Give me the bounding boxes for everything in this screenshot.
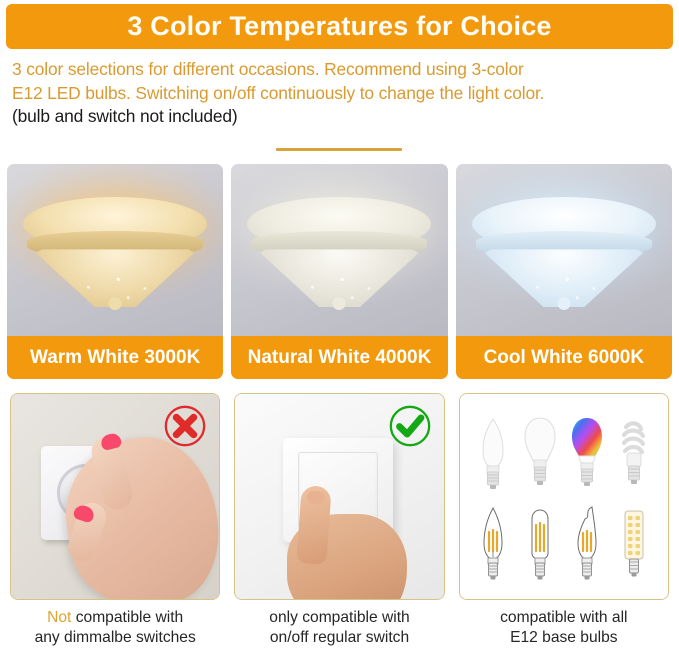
check-mark-icon bbox=[387, 403, 433, 449]
caption-line-1: only compatible with bbox=[234, 608, 444, 628]
bulb-cell bbox=[564, 408, 611, 499]
temperature-label: Cool White 6000K bbox=[484, 347, 644, 369]
compatibility-panel-dimmer: Not compatible with any dimmalbe switche… bbox=[10, 393, 220, 648]
bulb-cell bbox=[611, 408, 658, 499]
compatibility-caption-bulbs: compatible with all E12 base bulbs bbox=[459, 608, 669, 648]
intro-line-1: 3 color selections for different occasio… bbox=[12, 58, 672, 82]
crystal-flush-mount-fixture bbox=[472, 197, 656, 309]
cfl-spiral-bulb-icon bbox=[617, 415, 651, 491]
bulb-grid bbox=[460, 394, 668, 599]
caption-rest: compatible with bbox=[71, 609, 183, 626]
corn-led-bulb-icon bbox=[619, 505, 649, 583]
section-divider bbox=[276, 148, 402, 151]
temperature-caption-warm: Warm White 3000K bbox=[7, 336, 223, 379]
temperature-card-warm: Warm White 3000K bbox=[7, 164, 223, 379]
caption-line-1: Not compatible with bbox=[10, 608, 220, 628]
filament-candle-bulb-icon bbox=[477, 505, 509, 583]
bulb-cell bbox=[611, 499, 658, 590]
caption-line-2: E12 base bulbs bbox=[459, 628, 669, 648]
ceiling-light-photo-warm bbox=[7, 164, 223, 336]
color-temperature-row: Warm White 3000K Natural White 4000K bbox=[7, 164, 672, 379]
crystal-flush-mount-fixture bbox=[23, 197, 207, 309]
ceiling-light-photo-natural bbox=[231, 164, 447, 336]
caption-highlight: Not bbox=[47, 609, 71, 626]
ceiling-light-photo-cool bbox=[456, 164, 672, 336]
caption-line-1: compatible with all bbox=[459, 608, 669, 628]
caption-line-2: any dimmalbe switches bbox=[10, 628, 220, 648]
intro-line-2: E12 LED bulbs. Switching on/off continuo… bbox=[12, 82, 672, 106]
fixture-finial bbox=[333, 297, 346, 310]
dimmer-switch-photo bbox=[10, 393, 220, 600]
bulb-cell bbox=[517, 499, 564, 590]
bulb-cell bbox=[470, 499, 517, 590]
infographic-page: 3 Color Temperatures for Choice 3 color … bbox=[0, 0, 679, 653]
e12-bulb-chart bbox=[459, 393, 669, 600]
temperature-label: Natural White 4000K bbox=[248, 347, 432, 369]
fixture-finial bbox=[109, 297, 122, 310]
temperature-card-natural: Natural White 4000K bbox=[231, 164, 447, 379]
compatibility-panel-rocker: only compatible with on/off regular swit… bbox=[234, 393, 444, 648]
page-title: 3 Color Temperatures for Choice bbox=[127, 11, 551, 42]
rocker-switch-photo bbox=[234, 393, 444, 600]
globe-bulb-icon bbox=[522, 415, 558, 491]
candle-bulb-icon bbox=[476, 415, 510, 491]
bulb-cell bbox=[564, 499, 611, 590]
temperature-caption-cool: Cool White 6000K bbox=[456, 336, 672, 379]
header-banner: 3 Color Temperatures for Choice bbox=[6, 4, 673, 49]
x-mark-icon bbox=[162, 403, 208, 449]
fixture-finial bbox=[557, 297, 570, 310]
intro-paragraph: 3 color selections for different occasio… bbox=[12, 58, 672, 129]
compatibility-caption-rocker: only compatible with on/off regular swit… bbox=[234, 608, 444, 648]
temperature-label: Warm White 3000K bbox=[30, 347, 200, 369]
pointing-finger bbox=[297, 485, 332, 565]
bulb-cell bbox=[470, 408, 517, 499]
filament-tube-bulb-icon bbox=[525, 505, 555, 583]
crystal-flush-mount-fixture bbox=[247, 197, 431, 309]
temperature-card-cool: Cool White 6000K bbox=[456, 164, 672, 379]
flame-tip-filament-bulb-icon bbox=[571, 505, 603, 583]
compatibility-row: Not compatible with any dimmalbe switche… bbox=[10, 393, 669, 648]
rgb-color-bulb-icon bbox=[569, 415, 605, 491]
intro-note: (bulb and switch not included) bbox=[12, 105, 672, 129]
bulb-cell bbox=[517, 408, 564, 499]
compatibility-panel-bulbs: compatible with all E12 base bulbs bbox=[459, 393, 669, 648]
caption-line-2: on/off regular switch bbox=[234, 628, 444, 648]
temperature-caption-natural: Natural White 4000K bbox=[231, 336, 447, 379]
compatibility-caption-dimmer: Not compatible with any dimmalbe switche… bbox=[10, 608, 220, 648]
